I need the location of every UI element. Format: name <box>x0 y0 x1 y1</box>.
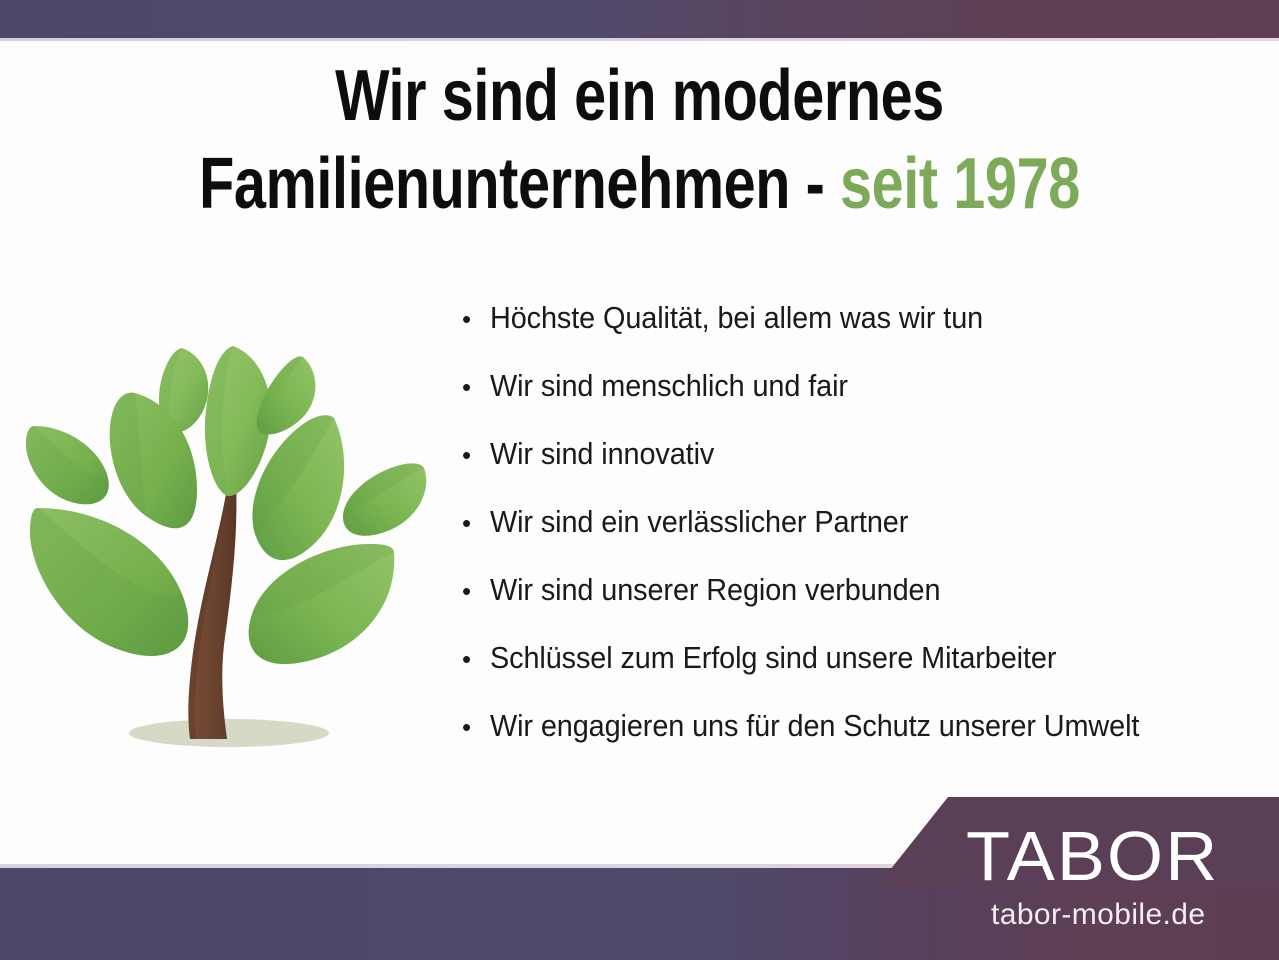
bullet-marker-icon: • <box>455 646 490 672</box>
list-item-label: Wir sind unserer Region verbunden <box>490 574 1213 605</box>
tree-shadow <box>129 719 329 747</box>
list-item: • Wir sind innovativ <box>455 438 1267 506</box>
list-item: • Wir sind unserer Region verbunden <box>455 574 1267 642</box>
logo-badge-corner <box>938 797 978 823</box>
list-item: • Wir sind menschlich und fair <box>455 370 1267 438</box>
top-accent-bar-underline <box>0 38 1279 41</box>
tree-leaf-right-small <box>343 463 426 535</box>
bullet-marker-icon: • <box>455 374 490 400</box>
headline-line-1: Wir sind ein modernes <box>128 52 1151 140</box>
list-item-label: Wir sind innovativ <box>490 438 1213 469</box>
list-item-label: Wir sind ein verlässlicher Partner <box>490 506 1213 537</box>
tree-leaf-lower-left <box>30 508 188 656</box>
list-item-label: Wir engagieren uns für den Schutz unsere… <box>490 710 1213 741</box>
tree-trunk <box>188 482 236 739</box>
list-item: • Wir sind ein verlässlicher Partner <box>455 506 1267 574</box>
headline-accent-seit-1978: seit 1978 <box>840 144 1080 224</box>
page-title: Wir sind ein modernes Familienunternehme… <box>128 52 1151 228</box>
tree-illustration <box>22 330 442 760</box>
slide-canvas: Wir sind ein modernes Familienunternehme… <box>0 0 1279 960</box>
bullet-marker-icon: • <box>455 306 490 332</box>
bullet-marker-icon: • <box>455 510 490 536</box>
headline-line-2-prefix: Familienunternehmen - <box>199 144 840 224</box>
bullet-marker-icon: • <box>455 442 490 468</box>
value-bullet-list: • Höchste Qualität, bei allem was wir tu… <box>455 302 1267 778</box>
list-item-label: Schlüssel zum Erfolg sind unsere Mitarbe… <box>490 642 1213 673</box>
list-item-label: Höchste Qualität, bei allem was wir tun <box>490 302 1213 333</box>
list-item: • Wir engagieren uns für den Schutz unse… <box>455 710 1267 778</box>
tree-leaf-left-small <box>26 426 109 504</box>
top-accent-bar <box>0 0 1279 38</box>
tree-leaf-lower-right <box>249 544 395 664</box>
bullet-marker-icon: • <box>455 578 490 604</box>
list-item-label: Wir sind menschlich und fair <box>490 370 1213 401</box>
headline-line-2: Familienunternehmen - seit 1978 <box>128 140 1151 228</box>
list-item: • Schlüssel zum Erfolg sind unsere Mitar… <box>455 642 1267 710</box>
list-item: • Höchste Qualität, bei allem was wir tu… <box>455 302 1267 370</box>
bullet-marker-icon: • <box>455 714 490 740</box>
